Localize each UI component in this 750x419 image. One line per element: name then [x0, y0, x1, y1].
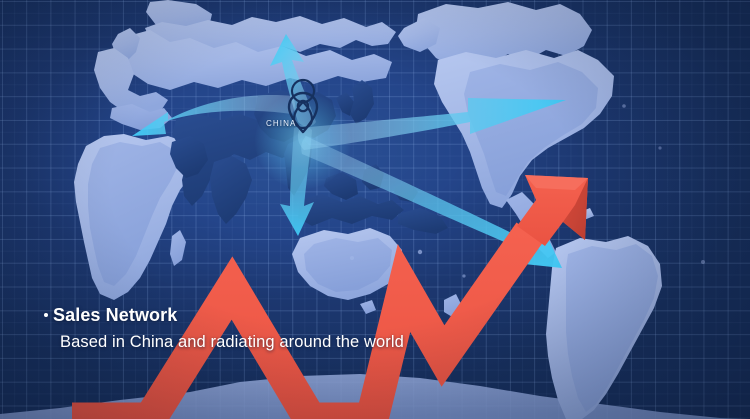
page-title: Sales Network	[53, 305, 177, 326]
bullet-icon	[44, 313, 48, 317]
banner-root: CHINA Sales Network Ba	[0, 0, 750, 419]
caption-block: Sales Network Based in China and radiati…	[44, 305, 404, 352]
vignette-overlay	[0, 0, 750, 419]
caption-title-row: Sales Network	[44, 305, 404, 326]
page-subtitle: Based in China and radiating around the …	[60, 333, 404, 352]
